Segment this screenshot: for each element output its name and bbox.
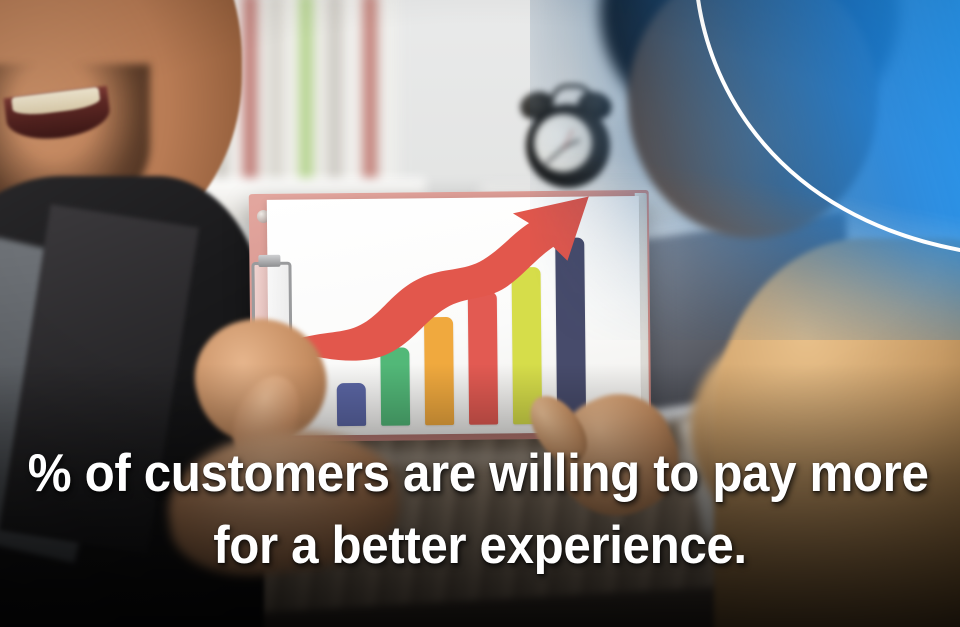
promo-image: % of customers are willing to pay more f… <box>0 0 960 627</box>
background-photo <box>0 0 960 627</box>
alarm-clock-icon <box>516 88 620 192</box>
clock-face <box>534 114 592 172</box>
